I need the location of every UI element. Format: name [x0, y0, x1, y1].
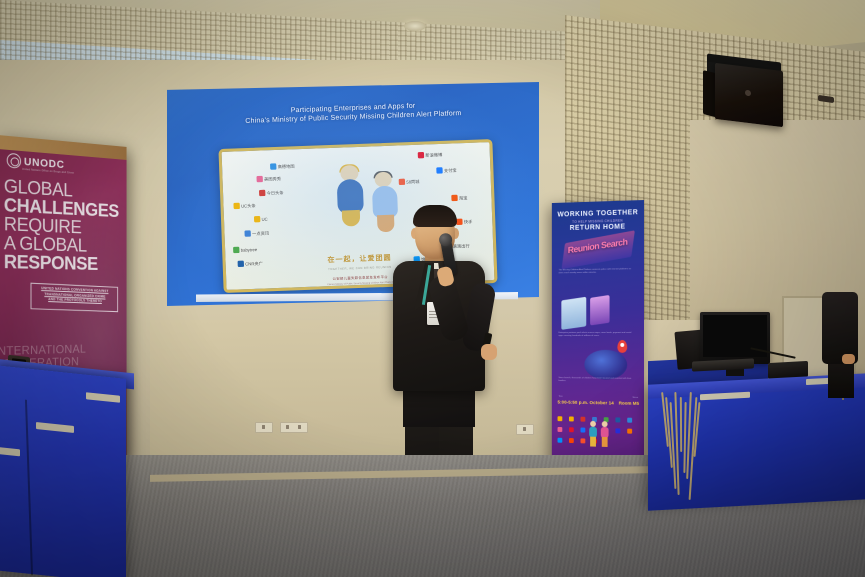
app-logo-mark-icon [436, 167, 442, 173]
child-legs [590, 437, 596, 447]
unodc-wordmark: UNODC [24, 156, 65, 171]
cable [680, 397, 682, 452]
attendee-right [818, 292, 865, 402]
rollup-room-label: Venue [632, 397, 638, 399]
rollup-sponsor-logo-icon [580, 417, 585, 422]
wall-outlet [280, 422, 308, 433]
app-logo-label: 新浪微博 [425, 151, 442, 158]
presenter-hand-right [481, 344, 497, 360]
rollup-sponsor-logo-icon [627, 429, 632, 434]
speaker-logo-icon [745, 90, 751, 97]
rollup-child-figure-2 [600, 421, 610, 447]
rollup-sponsor-logo-icon [615, 428, 620, 433]
app-logo-label: UC头条 [241, 202, 256, 209]
headline-line-4: A GLOBAL [4, 234, 122, 256]
rollup-sponsor-logo-icon [569, 438, 574, 443]
app-logo-mark-icon [418, 152, 424, 158]
illustration-figure-adult [334, 165, 366, 226]
rollup-globe-icon [584, 350, 627, 380]
attendee-body [822, 292, 858, 364]
app-logo: 美图秀秀 [256, 175, 281, 182]
app-logo-label: 一点资讯 [252, 230, 269, 237]
rollup-sponsor-logo-icon [615, 417, 620, 422]
app-logo: 高德地图 [270, 163, 295, 170]
app-logo-mark-icon [259, 190, 265, 196]
rollup-headline-1: WORKING TOGETHER [552, 209, 644, 219]
rollup-sponsor-logo-icon [580, 428, 585, 433]
unodc-subtitle: United Nations Office on Drugs and Crime [22, 168, 74, 175]
rollup-phone-graphic-1 [561, 297, 586, 330]
app-logo-mark-icon [233, 203, 239, 209]
un-emblem-icon [7, 153, 21, 169]
app-logo-label: 支付宝 [444, 167, 457, 174]
figure-body [337, 179, 364, 214]
app-logo: 58同城 [399, 178, 420, 185]
app-logo-mark-icon [256, 176, 262, 182]
app-logo: UC头条 [233, 202, 255, 209]
rollup-paragraph-3: Since launch, thousands of children have… [558, 377, 636, 385]
app-logo: 新浪微博 [418, 151, 443, 158]
app-logo: babytree [233, 246, 257, 253]
app-logo-mark-icon [233, 247, 239, 253]
rollup-sponsor-logo-icon [569, 416, 574, 421]
rollup-phone-graphic-2 [590, 295, 609, 326]
wall-outlet [516, 424, 534, 435]
downlight-icon [404, 21, 426, 31]
app-logo-label: 高德地图 [278, 163, 295, 170]
child-legs [602, 437, 608, 447]
ceiling-speaker [703, 58, 793, 138]
attendee-legs [828, 358, 854, 398]
app-logo: 今日头条 [259, 189, 284, 196]
app-logo-mark-icon [244, 230, 250, 236]
rollup-time-label: Time [558, 396, 562, 398]
headline-line-3: REQUIRE [4, 215, 122, 238]
unodc-logo: UNODC [7, 153, 65, 172]
banner-convention-box: UNITED NATIONS CONVENTION AGAINST TRANSN… [31, 283, 119, 312]
headline-line-5: RESPONSE [4, 253, 122, 274]
convention-line-2: TRANSNATIONAL ORGANIZED CRIME [34, 291, 114, 300]
app-logo-mark-icon [270, 163, 276, 169]
rollup-sponsor-logo-icon [558, 416, 563, 421]
attendee-hand [842, 354, 855, 364]
headline-line-1: GLOBAL [4, 177, 122, 203]
rollup-room: Room M5 [619, 401, 639, 406]
app-logo-label: 淘宝 [459, 194, 468, 201]
app-logo-label: 58同城 [406, 178, 419, 185]
app-logo-label: UC [261, 216, 267, 221]
rollup-sponsor-logo-icon [569, 427, 574, 432]
rollup-sponsor-logo-icon [627, 418, 632, 423]
app-logo-label: 美图秀秀 [264, 175, 281, 182]
convention-line-1: UNITED NATIONS CONVENTION AGAINST [34, 286, 114, 295]
rollup-session-time: 5:00-5:50 p.m. October 14 [558, 400, 614, 406]
app-logo-label: 今日头条 [266, 189, 283, 196]
figure-head [374, 172, 392, 188]
rollup-child-figure-1 [588, 421, 598, 447]
app-logo: 一点资讯 [244, 230, 269, 237]
rollup-sponsor-logo-icon [558, 427, 563, 432]
convention-line-3: AND THE PROTOCOLS THERETO [34, 297, 114, 305]
headline-line-2: CHALLENGES [4, 196, 122, 221]
cable-bundle [660, 390, 704, 482]
app-logo-mark-icon [254, 216, 260, 222]
wall-outlet [255, 422, 273, 433]
rollup-paragraph-1: The Missing Children Alert Platform conn… [558, 268, 636, 276]
app-logo: UC [254, 216, 268, 223]
app-logo: 淘宝 [451, 194, 467, 201]
map-pin-icon [617, 340, 627, 353]
rollup-paragraph-2: Enterprise partners push alerts across m… [558, 332, 636, 339]
reunion-rollup-banner: WORKING TOGETHER TO HELP MISSING CHILDRE… [552, 200, 644, 468]
app-logo: 支付宝 [436, 167, 456, 174]
banner-headline: GLOBAL CHALLENGES REQUIRE A GLOBAL RESPO… [4, 177, 122, 274]
presenter-hips [403, 385, 475, 427]
rollup-sponsor-logo-icon [580, 438, 585, 443]
conference-room-photo: Participating Enterprises and Apps for C… [0, 0, 865, 577]
app-logo-label: babytree [241, 247, 258, 253]
rollup-sponsor-logo-icon [558, 438, 563, 443]
av-monitor [700, 312, 770, 364]
presenter-hair [413, 205, 457, 227]
app-logo-mark-icon [451, 195, 457, 201]
figure-legs [342, 210, 361, 227]
